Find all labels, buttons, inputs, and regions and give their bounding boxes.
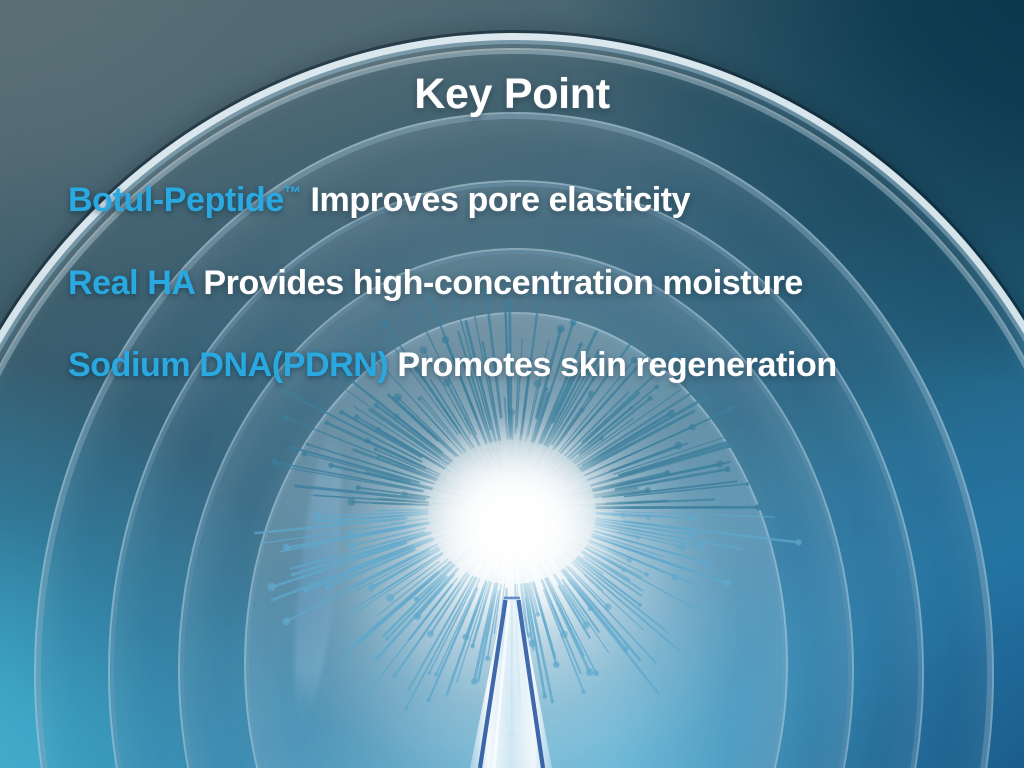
trademark-symbol-1: ™ [284,183,302,203]
key-point-item-2: Real HA Provides high-concentration mois… [68,264,994,303]
key-point-term-3: Sodium DNA(PDRN) [68,346,388,384]
key-point-description-2: Provides high-concentration moisture [203,264,803,302]
key-point-item-1: Botul-Peptide™ Improves pore elasticity [68,181,994,220]
key-point-term-2: Real HA [68,264,194,302]
key-point-item-3: Sodium DNA(PDRN) Promotes skin regenerat… [68,346,994,385]
key-point-slide: Key Point Botul-Peptide™ Improves pore e… [0,0,1024,768]
key-point-description-1: Improves pore elasticity [311,181,691,219]
key-point-term-1: Botul-Peptide™ [68,181,301,219]
slide-content: Key Point Botul-Peptide™ Improves pore e… [0,0,1024,768]
page-title: Key Point [0,70,1024,119]
key-point-description-3: Promotes skin regeneration [397,346,836,384]
